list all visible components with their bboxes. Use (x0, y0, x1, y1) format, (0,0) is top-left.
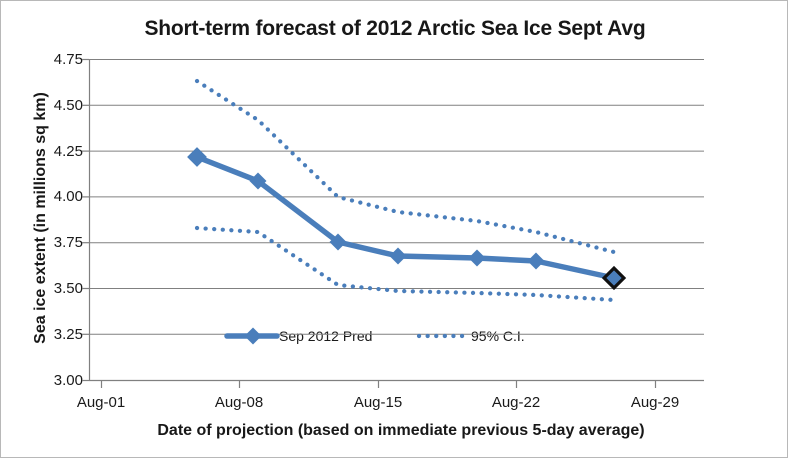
data-point-marker (390, 248, 407, 265)
axes (82, 59, 704, 388)
legend-marker-diamond-icon (245, 328, 262, 345)
chart-container: Short-term forecast of 2012 Arctic Sea I… (0, 0, 788, 458)
gridlines (89, 60, 704, 335)
plot-area (1, 1, 788, 458)
legend (227, 328, 463, 345)
data-point-marker (469, 250, 486, 267)
data-point-marker (187, 147, 207, 167)
data-point-marker-final (604, 268, 624, 288)
ci-upper-line (197, 81, 614, 252)
data-point-marker (528, 253, 545, 270)
